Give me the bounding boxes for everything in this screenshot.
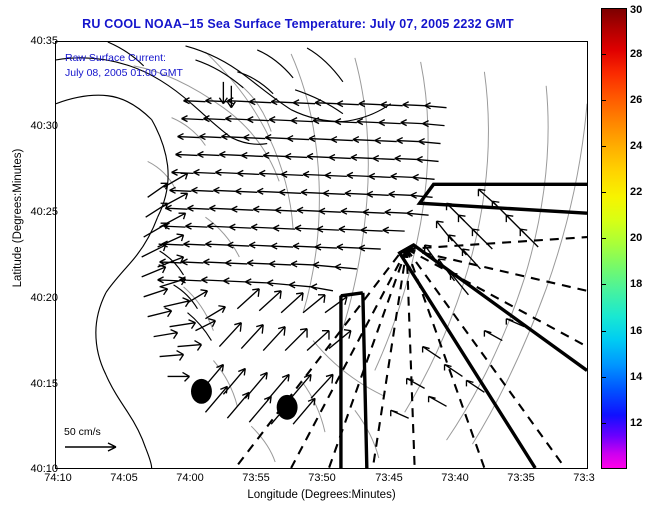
x-tick-label: 74:00	[176, 472, 204, 484]
colorbar-tick-label: 24	[630, 140, 642, 152]
page-title: RU COOL NOAA–15 Sea Surface Temperature:…	[0, 17, 596, 31]
x-tick-label: 73:40	[441, 472, 469, 484]
y-tick-label: 40:15	[30, 378, 58, 390]
vector-scale-arrow-icon	[64, 440, 126, 454]
y-tick-label: 40:30	[30, 120, 58, 132]
colorbar-tick-label: 20	[630, 232, 642, 244]
radar-site-markers	[191, 379, 298, 420]
x-tick-label: 73:3	[573, 472, 594, 484]
y-tick-label: 40:25	[30, 206, 58, 218]
map-plot-area: Raw Surface Current: July 08, 2005 01:00…	[55, 41, 588, 469]
vector-scale-key: 50 cm/s	[64, 426, 126, 459]
colorbar-tick-label: 28	[630, 48, 642, 60]
annotation-text: Raw Surface Current: July 08, 2005 01:00…	[65, 51, 183, 81]
x-tick-label: 74:10	[44, 472, 72, 484]
sst-current-figure: RU COOL NOAA–15 Sea Surface Temperature:…	[0, 0, 651, 518]
x-tick-label: 73:35	[507, 472, 535, 484]
colorbar-tick-label: 26	[630, 94, 642, 106]
colorbar-tick-label: 18	[630, 278, 642, 290]
colorbar-tick-label: 12	[630, 417, 642, 429]
colorbar-tick-label: 14	[630, 371, 642, 383]
colorbar-tick-label: 30	[630, 4, 642, 16]
x-tick-label: 73:50	[308, 472, 336, 484]
y-tick-label: 40:35	[30, 35, 58, 47]
y-tick-label: 40:20	[30, 292, 58, 304]
x-tick-label: 73:55	[242, 472, 270, 484]
map-vector-canvas	[56, 42, 587, 468]
annotation-line-2: July 08, 2005 01:00 GMT	[65, 66, 183, 81]
colorbar-tick-label: 22	[630, 186, 642, 198]
colorbar-tick-label: 16	[630, 325, 642, 337]
vector-scale-label: 50 cm/s	[64, 426, 126, 438]
x-tick-label: 74:05	[110, 472, 138, 484]
x-axis-label: Longitude (Degrees:Minutes)	[55, 489, 588, 501]
x-tick-label: 73:45	[375, 472, 403, 484]
y-axis-label: Latitude (Degrees:Minutes)	[12, 103, 24, 333]
annotation-line-1: Raw Surface Current:	[65, 51, 183, 66]
